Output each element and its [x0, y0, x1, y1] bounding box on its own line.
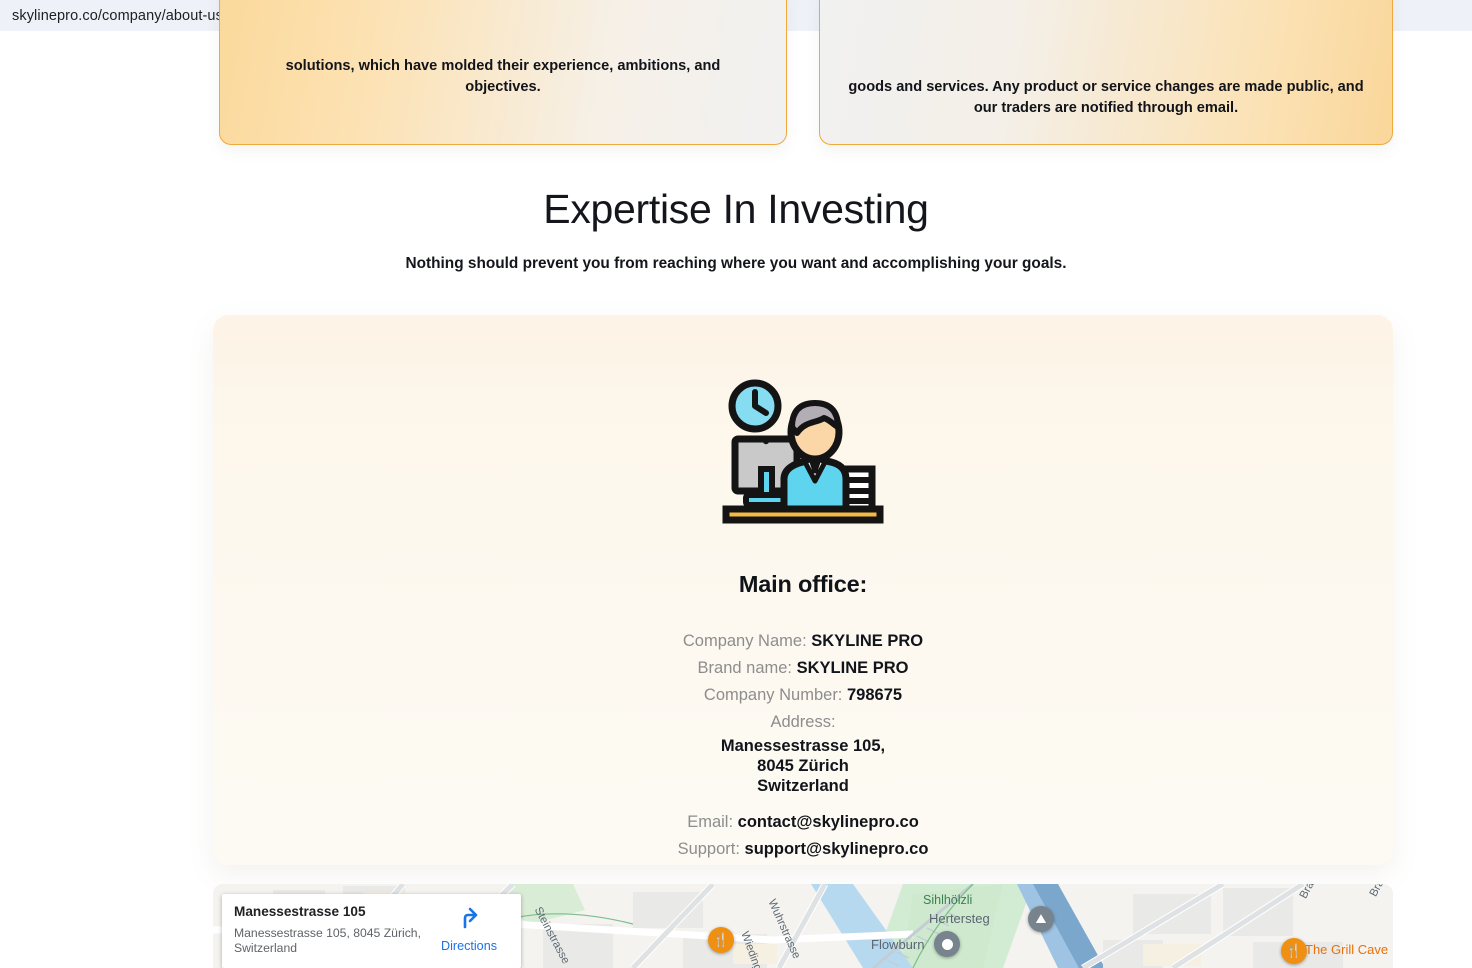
- experience-card: solutions, which have molded their exper…: [219, 0, 787, 145]
- company-number-row: Company Number: 798675: [213, 682, 1393, 709]
- address-label: Address:: [213, 709, 1393, 736]
- page-title: Expertise In Investing: [0, 181, 1472, 237]
- bridge-poi-icon[interactable]: ⛰: [1028, 906, 1054, 932]
- support-row: Support: support@skylinepro.co: [213, 836, 1393, 863]
- map-info-card[interactable]: Manessestrasse 105 Manessestrasse 105, 8…: [222, 894, 521, 968]
- address-block: Address: Manessestrasse 105, 8045 Zürich…: [213, 709, 1393, 796]
- office-worker-illustration: [722, 377, 884, 537]
- directions-button[interactable]: Directions: [431, 906, 507, 954]
- brand-name-value: SKYLINE PRO: [797, 659, 909, 677]
- office-details: Company Name: SKYLINE PRO Brand name: SK…: [213, 628, 1393, 863]
- pin-dot: [942, 939, 953, 950]
- transparency-card-text: goods and services. Any product or servi…: [846, 77, 1366, 119]
- main-office-heading: Main office:: [213, 571, 1393, 598]
- email-row: Email: contact@skylinepro.co: [213, 809, 1393, 836]
- screenshot-root: skylinepro.co/company/about-us solutions…: [0, 0, 1472, 968]
- brand-name-label: Brand name:: [698, 659, 792, 677]
- email-label: Email:: [687, 813, 733, 831]
- company-number-label: Company Number:: [704, 686, 842, 704]
- brand-name-row: Brand name: SKYLINE PRO: [213, 655, 1393, 682]
- experience-card-text: solutions, which have molded their exper…: [246, 56, 760, 98]
- address-line-1: Manessestrasse 105,: [213, 736, 1393, 756]
- directions-arrow-icon: [457, 906, 481, 930]
- map-info-address: Manessestrasse 105, 8045 Zürich, Switzer…: [234, 926, 424, 956]
- company-name-label: Company Name:: [683, 632, 807, 650]
- page-content: solutions, which have molded their exper…: [0, 31, 1472, 968]
- restaurant-poi-icon[interactable]: 🍴: [708, 927, 734, 953]
- grill-cave-poi-icon[interactable]: 🍴: [1281, 938, 1307, 964]
- page-subtitle: Nothing should prevent you from reaching…: [0, 253, 1472, 275]
- company-name-row: Company Name: SKYLINE PRO: [213, 628, 1393, 655]
- flowburn-poi-icon[interactable]: [934, 931, 960, 957]
- company-name-value: SKYLINE PRO: [811, 632, 923, 650]
- url-text[interactable]: skylinepro.co/company/about-us: [0, 8, 223, 24]
- section-header: Expertise In Investing Nothing should pr…: [0, 181, 1472, 275]
- transparency-card: goods and services. Any product or servi…: [819, 0, 1393, 145]
- main-office-card: Main office: Company Name: SKYLINE PRO B…: [213, 315, 1393, 865]
- support-label: Support:: [678, 840, 740, 858]
- address-line-3: Switzerland: [213, 776, 1393, 796]
- company-number-value: 798675: [847, 686, 902, 704]
- directions-label[interactable]: Directions: [431, 938, 507, 954]
- support-value[interactable]: support@skylinepro.co: [745, 840, 929, 858]
- address-line-2: 8045 Zürich: [213, 756, 1393, 776]
- location-map[interactable]: Steinstrasse nstrasse Wuhrstrasse Wiedin…: [213, 884, 1393, 968]
- email-block: Email: contact@skylinepro.co Support: su…: [213, 809, 1393, 863]
- email-value[interactable]: contact@skylinepro.co: [738, 813, 919, 831]
- feature-cards-row: solutions, which have molded their exper…: [219, 48, 1393, 145]
